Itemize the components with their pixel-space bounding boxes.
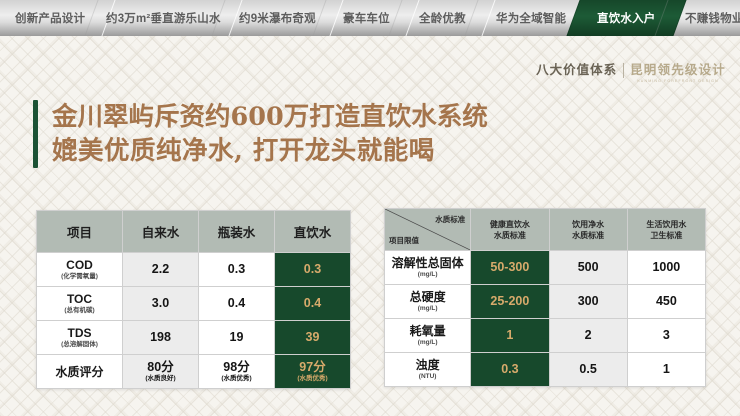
column-header-line-1: 饮用净水 <box>550 219 627 230</box>
cell-subvalue: (水质优秀) <box>199 374 274 383</box>
row-label-sub: (总溶解固体) <box>37 340 122 349</box>
table-row: 浊度(NTU)0.30.51 <box>385 353 706 387</box>
data-cell: 198 <box>123 321 199 355</box>
cell-value: 1 <box>471 329 548 342</box>
data-cell: 0.3 <box>275 253 351 287</box>
headline-accent-bar <box>33 100 38 168</box>
cell-value: 80分 <box>123 361 198 374</box>
table-row: 水质评分80分(水质良好)98分(水质优秀)97分(水质优秀) <box>37 355 351 389</box>
brand-divider <box>623 63 624 78</box>
brand-lockup: 八大价值体系 昆明领先级设计 KUNMING FOREFRONT DESIGN <box>536 62 726 83</box>
cell-value: 98分 <box>199 361 274 374</box>
data-cell: 3 <box>627 319 705 353</box>
data-cell: 0.4 <box>275 287 351 321</box>
cell-subvalue: (水质良好) <box>123 374 198 383</box>
cell-value: 97分 <box>275 361 350 374</box>
nav-tab-label: 不赚钱物业 <box>685 10 740 26</box>
cell-value: 0.4 <box>199 297 274 310</box>
cell-subvalue: (水质优秀) <box>275 374 350 383</box>
water-standard-limits-table: 水质标准项目限值健康直饮水水质标准饮用净水水质标准生活饮用水卫生标准 溶解性总固… <box>384 208 706 387</box>
data-cell: 39 <box>275 321 351 355</box>
cell-value: 300 <box>550 295 627 308</box>
row-label: TOC(总有机碳) <box>37 287 123 321</box>
table-row: TOC(总有机碳)3.00.40.4 <box>37 287 351 321</box>
row-label-sub: (总有机碳) <box>37 306 122 315</box>
row-label-main: 水质评分 <box>37 365 122 379</box>
row-label: 浊度(NTU) <box>385 353 471 387</box>
cell-value: 0.3 <box>275 263 350 276</box>
column-header-2: 饮用净水水质标准 <box>549 209 627 251</box>
cell-value: 19 <box>199 331 274 344</box>
row-label-sub: (化学需氧量) <box>37 272 122 281</box>
column-header-line-2: 卫生标准 <box>628 230 705 241</box>
column-header-line-2: 水质标准 <box>471 230 548 241</box>
row-label: 溶解性总固体(mg/L) <box>385 251 471 285</box>
cell-value: 0.3 <box>199 263 274 276</box>
cell-value: 3 <box>628 329 705 342</box>
brand-subtitle: 昆明领先级设计 <box>630 62 726 78</box>
data-cell: 2 <box>549 319 627 353</box>
row-label-unit: (mg/L) <box>385 270 470 279</box>
column-header-1: 项目 <box>37 211 123 253</box>
row-label-main: 耗氧量 <box>385 324 470 338</box>
table-row: 总硬度(mg/L)25-200300450 <box>385 285 706 319</box>
cell-value: 0.4 <box>275 297 350 310</box>
row-label-unit: (mg/L) <box>385 304 470 313</box>
nav-tab-label: 约9米瀑布奇观 <box>239 10 316 26</box>
cell-value: 1000 <box>628 261 705 274</box>
row-label: TDS(总溶解固体) <box>37 321 123 355</box>
table-header-row: 项目自来水瓶装水直饮水 <box>37 211 351 253</box>
column-header-2: 自来水 <box>123 211 199 253</box>
column-header-3: 瓶装水 <box>199 211 275 253</box>
corner-header-top: 水质标准 <box>435 214 465 225</box>
brand-english-tagline: KUNMING FOREFRONT DESIGN <box>637 79 718 83</box>
data-cell: 0.3 <box>471 353 549 387</box>
headline-line-1: 金川翠屿斥资约600万打造直饮水系统 <box>52 100 488 134</box>
row-label-main: TOC <box>37 292 122 306</box>
data-cell: 98分(水质优秀) <box>199 355 275 389</box>
data-cell: 1 <box>627 353 705 387</box>
row-label: COD(化学需氧量) <box>37 253 123 287</box>
data-cell: 0.4 <box>199 287 275 321</box>
row-label: 总硬度(mg/L) <box>385 285 471 319</box>
row-label-unit: (NTU) <box>385 372 470 381</box>
table-row: COD(化学需氧量)2.20.30.3 <box>37 253 351 287</box>
data-cell: 19 <box>199 321 275 355</box>
cell-value: 0.3 <box>471 363 548 376</box>
data-cell: 25-200 <box>471 285 549 319</box>
row-label-main: 溶解性总固体 <box>385 256 470 270</box>
table-row: 耗氧量(mg/L)123 <box>385 319 706 353</box>
nav-tab-label: 豪车车位 <box>343 10 390 26</box>
cell-value: 2 <box>550 329 627 342</box>
table-row: 溶解性总固体(mg/L)50-3005001000 <box>385 251 706 285</box>
diagonal-corner-header: 水质标准项目限值 <box>385 209 471 251</box>
row-label-main: 总硬度 <box>385 290 470 304</box>
cell-value: 3.0 <box>123 297 198 310</box>
data-cell: 1 <box>471 319 549 353</box>
comparison-table: 项目自来水瓶装水直饮水 COD(化学需氧量)2.20.30.3TOC(总有机碳)… <box>36 210 351 389</box>
cell-value: 450 <box>628 295 705 308</box>
cell-value: 0.5 <box>550 363 627 376</box>
data-cell: 1000 <box>627 251 705 285</box>
data-cell: 0.3 <box>199 253 275 287</box>
page-title: 金川翠屿斥资约600万打造直饮水系统 媲美优质纯净水, 打开龙头就能喝 <box>52 100 488 168</box>
water-quality-comparison-table: 项目自来水瓶装水直饮水 COD(化学需氧量)2.20.30.3TOC(总有机碳)… <box>36 210 350 389</box>
nav-tab-8[interactable]: 不赚钱物业 <box>655 0 740 36</box>
nav-tab-label: 华为全域智能 <box>496 10 566 26</box>
cell-value: 50-300 <box>471 261 548 274</box>
column-header-1: 健康直饮水水质标准 <box>471 209 549 251</box>
data-cell: 97分(水质优秀) <box>275 355 351 389</box>
data-cell: 3.0 <box>123 287 199 321</box>
data-cell: 500 <box>549 251 627 285</box>
headline-line-2: 媲美优质纯净水, 打开龙头就能喝 <box>52 134 488 168</box>
row-label: 水质评分 <box>37 355 123 389</box>
standards-table: 水质标准项目限值健康直饮水水质标准饮用净水水质标准生活饮用水卫生标准 溶解性总固… <box>384 208 706 387</box>
row-label-main: COD <box>37 258 122 272</box>
data-cell: 50-300 <box>471 251 549 285</box>
cell-value: 25-200 <box>471 295 548 308</box>
column-header-line-1: 生活饮用水 <box>628 219 705 230</box>
cell-value: 2.2 <box>123 263 198 276</box>
cell-value: 198 <box>123 331 198 344</box>
nav-tab-label: 直饮水入户 <box>597 10 656 26</box>
data-cell: 0.5 <box>549 353 627 387</box>
brand-title: 八大价值体系 <box>536 62 617 78</box>
cell-value: 500 <box>550 261 627 274</box>
nav-tab-label: 全龄优教 <box>419 10 466 26</box>
row-label-main: TDS <box>37 326 122 340</box>
column-header-line-1: 健康直饮水 <box>471 219 548 230</box>
data-cell: 2.2 <box>123 253 199 287</box>
nav-tab-label: 创新产品设计 <box>15 10 85 26</box>
column-header-4: 直饮水 <box>275 211 351 253</box>
table-header-row: 水质标准项目限值健康直饮水水质标准饮用净水水质标准生活饮用水卫生标准 <box>385 209 706 251</box>
cell-value: 1 <box>628 363 705 376</box>
cell-value: 39 <box>275 331 350 344</box>
top-navigation-bar: 创新产品设计约3万m²垂直游乐山水约9米瀑布奇观豪车车位全龄优教华为全域智能直饮… <box>0 0 740 36</box>
row-label-unit: (mg/L) <box>385 338 470 347</box>
row-label-main: 浊度 <box>385 358 470 372</box>
nav-tab-label: 约3万m²垂直游乐山水 <box>106 10 221 26</box>
headline-block: 金川翠屿斥资约600万打造直饮水系统 媲美优质纯净水, 打开龙头就能喝 <box>33 100 488 168</box>
corner-header-bottom: 项目限值 <box>389 235 419 246</box>
table-row: TDS(总溶解固体)1981939 <box>37 321 351 355</box>
data-cell: 80分(水质良好) <box>123 355 199 389</box>
row-label: 耗氧量(mg/L) <box>385 319 471 353</box>
data-cell: 300 <box>549 285 627 319</box>
column-header-line-2: 水质标准 <box>550 230 627 241</box>
data-cell: 450 <box>627 285 705 319</box>
column-header-3: 生活饮用水卫生标准 <box>627 209 705 251</box>
